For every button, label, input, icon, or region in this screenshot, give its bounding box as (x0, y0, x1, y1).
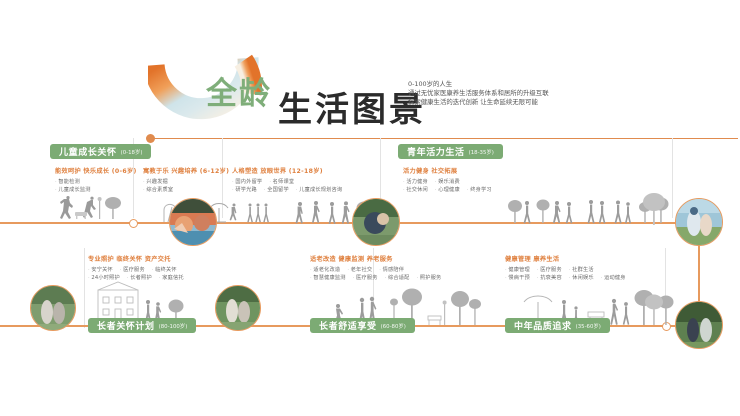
group-child-1: 寓教于乐 兴趣培养 (6-12岁) 兴趣发掘 综合素质室 (143, 166, 229, 193)
group-eldercare-0-item-1-0: 24小时照护 (88, 274, 120, 281)
group-midlife-0-item-1-0: 慢病干预 (505, 274, 530, 281)
group-midlife-0-item-1-2: 休闲娱乐 (569, 274, 594, 281)
group-child-0-heading: 能效呵护 快乐成长 (0-6岁) (55, 166, 137, 175)
badge-midlife-label: 中年品质追求 (514, 319, 572, 332)
group-eldercare-0-item-1-2: 家庭信托 (159, 274, 184, 281)
group-midlife-0-item-0-1: 医疗服务 (537, 266, 562, 273)
group-eldercare-0-heading: 专业照护 临终关怀 资产交托 (88, 254, 184, 263)
group-midlife-0-item-0-0: 健康管理 (505, 266, 530, 273)
group-child-0: 能效呵护 快乐成长 (0-6岁) 智能检测 儿童成长监测 (55, 166, 137, 193)
group-midlife-0-item-0-2: 社群生活 (569, 266, 594, 273)
photo-elder-walk[interactable] (30, 285, 76, 331)
group-child-1-heading: 寓教于乐 兴趣培养 (6-12岁) (143, 166, 229, 175)
group-eldercare-0-item-1-1: 长者照护 (127, 274, 152, 281)
group-youth-0-item-0-0: 活力健身 (403, 178, 428, 185)
badge-eldercare[interactable]: 长者关怀计划 (80-100岁) (88, 318, 196, 333)
group-eldercomfort-0-item-1-3: 照护服务 (417, 274, 442, 281)
header-rule (152, 138, 738, 139)
group-midlife-0-heading: 健康管理 康养生活 (505, 254, 626, 263)
photo-midlife-outdoor[interactable] (675, 301, 723, 349)
group-youth-0-item-1-2: 终身学习 (467, 186, 492, 193)
group-child-2-heading: 人格塑造 放眼世界 (12-18岁) (232, 166, 342, 175)
badge-midlife-age: (35-60岁) (576, 322, 601, 330)
group-midlife-0-item-1-3: 运动健身 (601, 274, 626, 281)
group-youth-0-heading: 活力健身 社交拓展 (403, 166, 492, 175)
badge-eldercare-label: 长者关怀计划 (97, 319, 155, 332)
badge-midlife[interactable]: 中年品质追求 (35-60岁) (505, 318, 610, 333)
badge-child-age: (0-18岁) (121, 148, 143, 156)
group-eldercare-0-item-0-2: 临终关怀 (152, 266, 177, 273)
group-youth-0-item-1-1: 心理健康 (435, 186, 460, 193)
divider-vertical-7 (84, 248, 85, 328)
group-midlife-0: 健康管理 康养生活 健康管理 医疗服务 社群生活 慢病干预 抗衰美容 休闲娱乐 … (505, 254, 626, 281)
group-child-2-item-0-1: 名师课堂 (269, 178, 294, 185)
photo-child-study[interactable] (352, 198, 400, 246)
group-eldercomfort-0-item-0-0: 适老化改造 (310, 266, 340, 273)
group-eldercomfort-0-item-1-0: 智慧健康监测 (310, 274, 346, 281)
group-eldercomfort-0-heading: 适老改造 健康监测 养老服务 (310, 254, 441, 263)
group-midlife-0-item-1-1: 抗衰美容 (537, 274, 562, 281)
group-youth-0-item-1-0: 社交休闲 (403, 186, 428, 193)
group-child-2: 人格塑造 放眼世界 (12-18岁) 国内外留学 名师课堂 研学光路 全国留学 … (232, 166, 342, 193)
group-child-2-item-0-0: 国内外留学 (232, 178, 262, 185)
badge-youth-age: (18-35岁) (469, 148, 494, 156)
group-eldercomfort-0-item-1-2: 综合适配 (385, 274, 410, 281)
photo-youth-sport[interactable] (675, 198, 723, 246)
group-child-2-item-1-0: 研学光路 (232, 186, 257, 193)
group-eldercomfort-0: 适老改造 健康监测 养老服务 适老化改造 老年社交 情感陪伴 智慧健康监测 医疗… (310, 254, 441, 281)
badge-eldercare-age: (80-100岁) (159, 322, 188, 330)
group-eldercomfort-0-item-1-1: 医疗服务 (353, 274, 378, 281)
header: 全龄 生活图景 0-100岁的人生 通过无忧家医康养生活服务体系和居所的升级互联… (0, 22, 740, 132)
subtitle-line-1: 0-100岁的人生 (408, 80, 638, 89)
group-child-2-item-1-2: 儿童成长规划咨询 (296, 186, 342, 193)
badge-child[interactable]: 儿童成长关怀 (0-18岁) (50, 144, 151, 159)
badge-eldercomfort[interactable]: 长者舒适享受 (60-80岁) (310, 318, 415, 333)
group-child-0-item-1-0: 儿童成长监测 (55, 186, 91, 193)
photo-elder-leisure[interactable] (215, 285, 261, 331)
silhouette-tree-right-icon (640, 190, 676, 226)
badge-youth-label: 青年活力生活 (407, 145, 465, 158)
page-title: 生活图景 (278, 82, 426, 131)
group-eldercomfort-0-item-0-2: 情感陪伴 (379, 266, 404, 273)
infographic-canvas: 全龄 生活图景 0-100岁的人生 通过无忧家医康养生活服务体系和居所的升级互联… (0, 0, 740, 416)
group-child-0-item-0-0: 智能检测 (55, 178, 80, 185)
silhouette-tree-lower-right-icon (640, 292, 676, 328)
silhouette-runner-bench-icon (55, 196, 135, 222)
group-youth-0-item-0-1: 娱乐消费 (435, 178, 460, 185)
photo-child-play[interactable] (169, 198, 217, 246)
group-eldercomfort-0-item-0-1: 老年社交 (347, 266, 372, 273)
group-youth-0: 活力健身 社交拓展 活力健身 娱乐消费 社交休闲 心理健康 终身学习 (403, 166, 492, 193)
title-accent: 全龄 (206, 68, 272, 113)
group-child-2-item-1-1: 全国留学 (264, 186, 289, 193)
badge-eldercomfort-label: 长者舒适享受 (319, 319, 377, 332)
group-child-1-item-0-0: 兴趣发掘 (143, 178, 168, 185)
group-child-1-item-1-0: 综合素质室 (143, 186, 173, 193)
group-eldercare-0-item-0-1: 医疗服务 (120, 266, 145, 273)
badge-eldercomfort-age: (60-80岁) (381, 322, 406, 330)
group-eldercare-0-item-0-0: 安宁关怀 (88, 266, 113, 273)
badge-youth[interactable]: 青年活力生活 (18-35岁) (398, 144, 503, 159)
group-eldercare-0: 专业照护 临终关怀 资产交托 安宁关怀 医疗服务 临终关怀 24小时照护 长者照… (88, 254, 184, 281)
badge-child-label: 儿童成长关怀 (59, 145, 117, 158)
subtitle-line-3: 探索健康生活的迭代创新 让生命延续无限可能 (408, 98, 638, 107)
subtitle: 0-100岁的人生 通过无忧家医康养生活服务体系和居所的升级互联 探索健康生活的… (408, 80, 638, 108)
